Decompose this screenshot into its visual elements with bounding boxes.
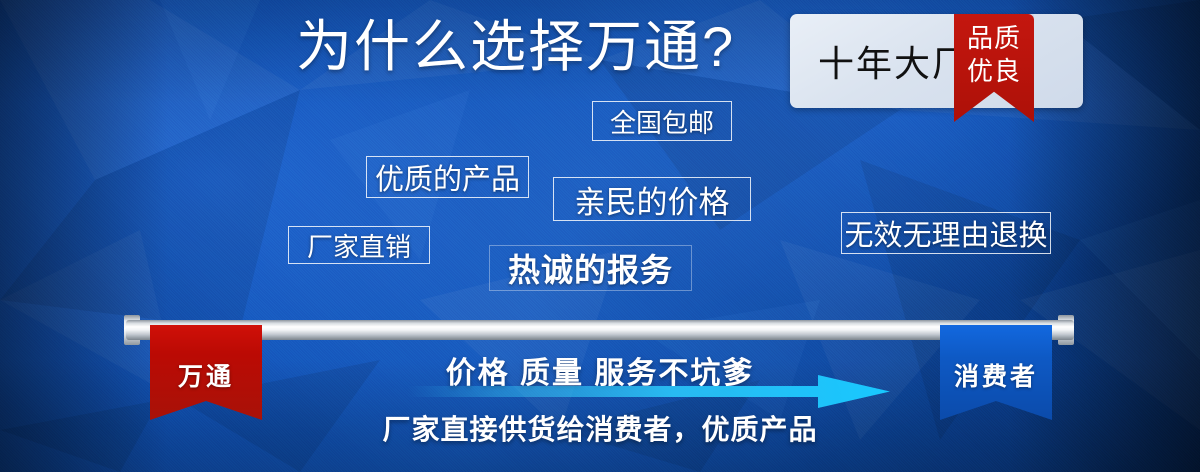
quality-badge-panel: 十年大厂 [790, 14, 1083, 108]
ribbon-line-2: 优良 [954, 55, 1034, 88]
feature-tag-factory-direct: 厂家直销 [288, 226, 430, 264]
page-title: 为什么选择万通? [296, 12, 735, 82]
ribbon-line-1: 品质 [954, 22, 1034, 55]
flow-arrow-icon [408, 375, 890, 408]
feature-tag-sincere-service: 热诚的报务 [489, 245, 692, 291]
feature-tag-affordable-price: 亲民的价格 [553, 177, 751, 221]
feature-tag-quality-product: 优质的产品 [366, 156, 529, 198]
banner-rod [126, 320, 1074, 340]
ribbon-text: 品质 优良 [954, 22, 1034, 87]
promo-banner: 为什么选择万通? 十年大厂 品质 优良 全国包邮 优质的产品 亲民的价格 无效无… [0, 0, 1200, 472]
feature-tag-nationwide-shipping: 全国包邮 [592, 101, 732, 141]
feature-tag-free-return: 无效无理由退换 [841, 212, 1051, 254]
badge-label: 十年大厂 [818, 35, 970, 87]
flow-subline: 厂家直接供货给消费者，优质产品 [0, 408, 1200, 448]
